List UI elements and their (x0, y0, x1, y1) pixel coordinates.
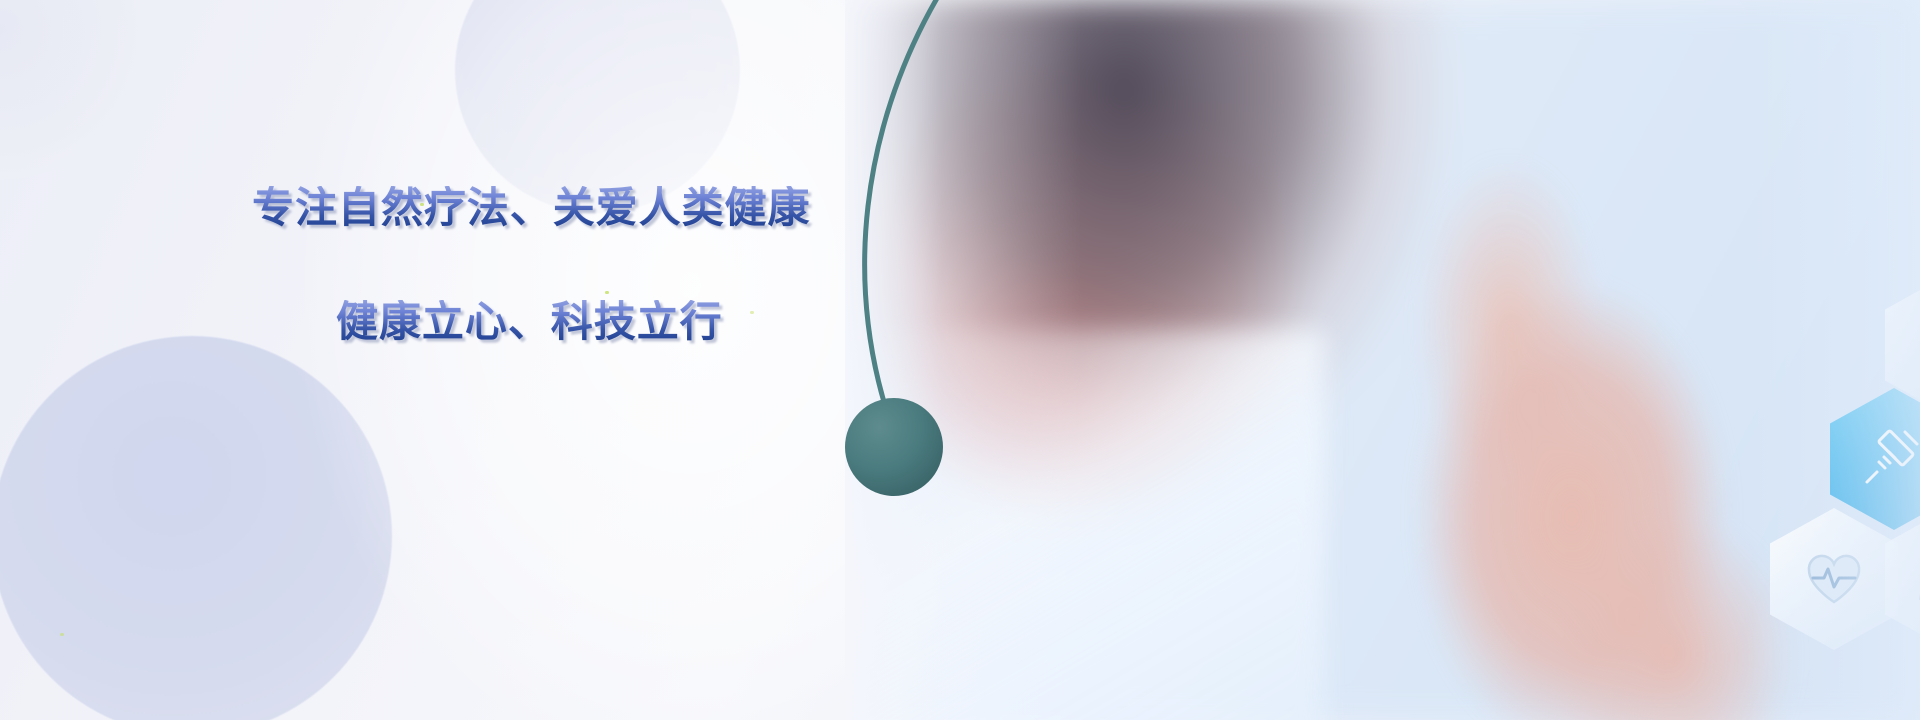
syringe-icon (1830, 388, 1920, 530)
hexagon-icon-cluster (1745, 0, 1920, 720)
arc-knob-icon (845, 398, 943, 496)
heart-pulse-icon (1770, 508, 1898, 650)
hero-banner: 专注自然疗法、关爱人类健康 健康立心、科技立行 (0, 0, 1920, 720)
background-blob-left (0, 0, 150, 180)
headline-line-1: 专注自然疗法、关爱人类健康 (252, 186, 872, 230)
background-blob-bottom (0, 336, 392, 720)
hero-headline: 专注自然疗法、关爱人类健康 健康立心、科技立行 (252, 186, 872, 344)
background-blob-top (455, 0, 740, 213)
family-group-icon (1885, 508, 1920, 650)
decor-speck (60, 633, 64, 636)
headline-line-2: 健康立心、科技立行 (336, 300, 872, 344)
